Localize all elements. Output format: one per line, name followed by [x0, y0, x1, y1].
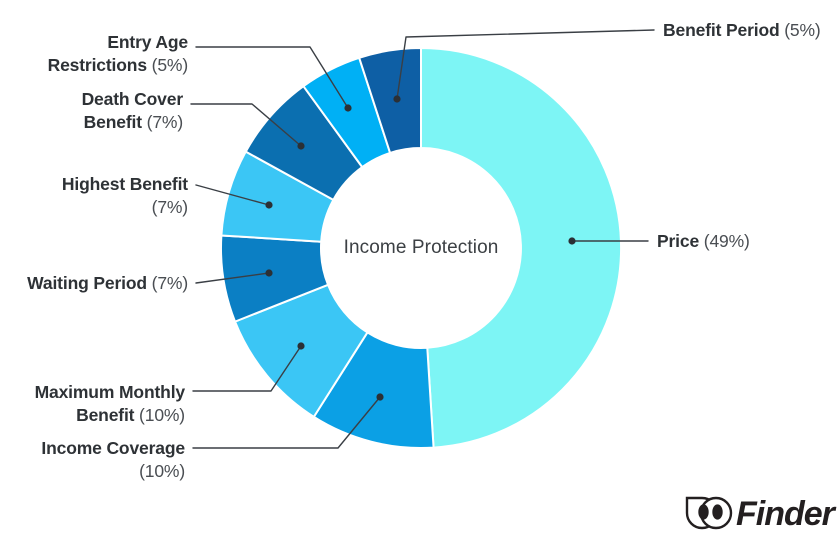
callout-label: Benefit (10%) [76, 405, 185, 425]
callout-label: Maximum Monthly [35, 382, 186, 402]
callout-label-name: Price [657, 231, 699, 251]
finder-wordmark: Finder [736, 495, 837, 533]
callout-label-name: Death Cover [82, 89, 184, 109]
callout-anchor-dot [265, 201, 272, 208]
callout-label: Price (49%) [657, 231, 750, 251]
callout-anchor-dot [297, 142, 304, 149]
callout-label-percent: (10%) [134, 405, 185, 425]
donut-center-label: Income Protection [344, 237, 499, 258]
callout-label-name: Income Coverage [41, 438, 185, 458]
finder-logo: Finder [687, 495, 837, 533]
callout-label: Income Coverage [41, 438, 185, 458]
callout-label-name: Highest Benefit [62, 174, 188, 194]
callout-anchor-dot [297, 342, 304, 349]
finder-left-pupil-icon [698, 504, 708, 519]
callout-anchor-dot [344, 104, 351, 111]
donut-chart-svg: Income Protection Price (49%)Benefit Per… [0, 0, 837, 537]
callout-label-percent: (7%) [142, 112, 183, 132]
callout-anchor-dot [393, 95, 400, 102]
callout-label-name: Benefit Period [663, 20, 780, 40]
callout-anchor-dot [568, 237, 575, 244]
callout-label-percent: (5%) [147, 55, 188, 75]
callout-label-name: Maximum Monthly [35, 382, 186, 402]
finder-right-pupil-icon [712, 504, 722, 519]
callout-label-percent: (7%) [147, 273, 188, 293]
callout-label: Benefit (7%) [84, 112, 183, 132]
callout-label: Benefit Period (5%) [663, 20, 821, 40]
callout-anchor-dot [265, 269, 272, 276]
callout-label-percent: (5%) [780, 20, 821, 40]
callout-label-name: Restrictions [48, 55, 148, 75]
callout-label: Waiting Period (7%) [27, 273, 188, 293]
callout-label-name: Benefit [76, 405, 135, 425]
callout-label-percent: (7%) [152, 197, 188, 217]
callout-label-name: Benefit [84, 112, 143, 132]
callout-anchor-dot [376, 393, 383, 400]
callout-label: Entry Age [107, 32, 188, 52]
finder-eyes-icon [687, 498, 731, 528]
callout-label: Restrictions (5%) [48, 55, 188, 75]
callout-label-name: Waiting Period [27, 273, 147, 293]
callout-label-name: Entry Age [107, 32, 188, 52]
callout-label: (7%) [152, 197, 188, 217]
callout-label: Death Cover [82, 89, 184, 109]
callout-label-percent: (49%) [699, 231, 750, 251]
callout-label: Highest Benefit [62, 174, 188, 194]
donut-chart-figure: Income Protection Price (49%)Benefit Per… [0, 0, 837, 537]
callout-label-percent: (10%) [139, 461, 185, 481]
callout-label: (10%) [139, 461, 185, 481]
